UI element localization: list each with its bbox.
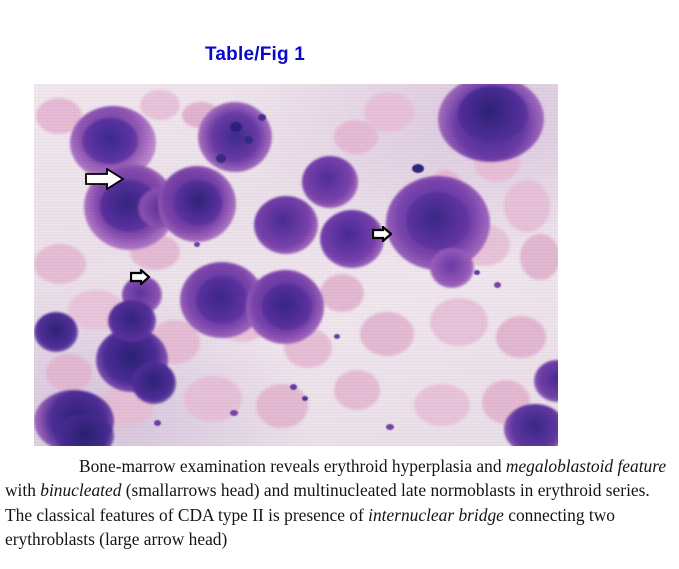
- caption-emphasis: binucleated: [40, 480, 121, 500]
- caption-emphasis: megaloblastoid feature: [506, 456, 666, 476]
- caption-text: Bone-marrow examination reveals erythroi…: [79, 456, 506, 476]
- small-arrow-head-icon-right: [372, 226, 392, 242]
- small-arrow-head-icon-left: [130, 269, 150, 285]
- micrograph-film-grain: [34, 84, 558, 446]
- figure-caption: Bone-marrow examination reveals erythroi…: [5, 454, 673, 552]
- caption-emphasis: internuclear bridge: [368, 505, 504, 525]
- page-title: Table/Fig 1: [205, 44, 305, 66]
- bone-marrow-micrograph: [34, 84, 558, 446]
- large-arrow-head-icon: [85, 168, 125, 190]
- caption-text: with: [5, 480, 40, 500]
